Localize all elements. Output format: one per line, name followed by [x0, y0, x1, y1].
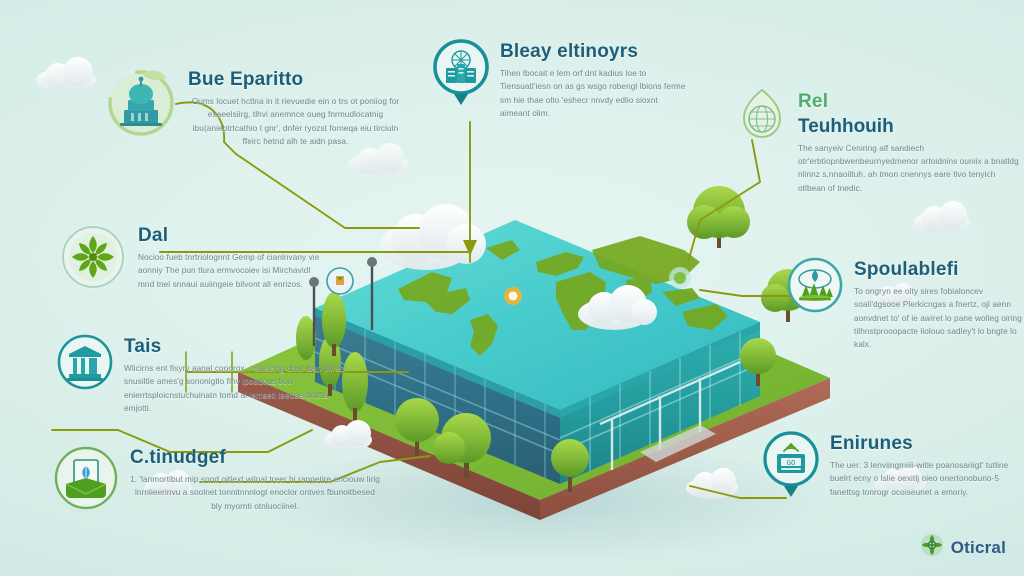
- callout-body: The sanyeiv Ceniring alf sandiech otr'er…: [798, 142, 1024, 195]
- callout-tech[interactable]: Rel Teuhhouih The sanyeiv Ceniring alf s…: [736, 88, 1024, 195]
- callout-title: Dal: [138, 226, 328, 246]
- callout-title: Rel: [798, 92, 1024, 112]
- svg-text:GO: GO: [787, 459, 795, 467]
- callout-body: To ongryn ee olty sires fobialoncev soal…: [854, 285, 1024, 351]
- callout-body: Tihen lbocait e lem orf dnt kadius loe t…: [500, 67, 690, 120]
- callout-subtitle: Teuhhouih: [798, 117, 1024, 137]
- callout-data[interactable]: Dal Nocioo fueb tnrtriolognnt Gemp of ci…: [58, 222, 328, 292]
- callout-body: Oums locuet hctlna in it rievuedie ein o…: [188, 95, 403, 148]
- callout-title: Tais: [124, 337, 354, 357]
- callout-body: The uer: 3 lenviingmiiii-witle poanosari…: [830, 459, 1024, 499]
- brand-logo[interactable]: Oticral: [920, 533, 1006, 562]
- callout-title: Spoulablefi: [854, 260, 1024, 280]
- domed-building-leaf-icon: [104, 66, 178, 140]
- forest-dome-icon: [786, 256, 844, 314]
- document-leaf-icon: [52, 444, 120, 512]
- callout-title: Bue Eparitto: [188, 70, 403, 90]
- callout-change[interactable]: C.tinudgef 1. 'lanmortibut mip snnd oitl…: [52, 444, 380, 513]
- energy-meter-pin-icon: GO: [762, 430, 820, 488]
- callout-title: Enirunes: [830, 434, 1024, 454]
- callout-energy[interactable]: Bleay eltinoyrs Tihen lbocait e lem orf …: [432, 38, 690, 120]
- infographic-canvas: Bue Eparitto Oums locuet hctlna in it ri…: [0, 0, 1024, 576]
- callout-tais[interactable]: Tais Wlicirns ent fisyry aanal cooorox..…: [56, 333, 354, 415]
- pin-tail-icon: [454, 94, 468, 105]
- server-data-pin-icon: [432, 38, 490, 96]
- callout-body: Nocioo fueb tnrtriolognnt Gemp of cianln…: [138, 251, 328, 291]
- green-cross-network-icon: [58, 222, 128, 292]
- callout-body: Wlicirns ent fisyry aanal cooorox.., sin…: [124, 362, 354, 415]
- callout-environ[interactable]: GO Enirunes The uer: 3 lenviingmiiii-wit…: [762, 430, 1024, 499]
- classical-temple-icon: [56, 333, 114, 391]
- callout-blue[interactable]: Bue Eparitto Oums locuet hctlna in it ri…: [104, 66, 403, 148]
- flower-emblem-icon: [920, 533, 944, 562]
- callout-title: Bleay eltinoyrs: [500, 42, 690, 62]
- leaf-globe-icon: [736, 88, 788, 140]
- callout-body: 1. 'lanmortibut mip snnd oitlext wilnal …: [130, 473, 380, 513]
- pin-tail-icon: [784, 486, 798, 497]
- callout-sustain[interactable]: Spoulablefi To ongryn ee olty sires fobi…: [786, 256, 1024, 351]
- logo-text: Oticral: [951, 538, 1006, 558]
- callout-title: C.tinudgef: [130, 448, 380, 468]
